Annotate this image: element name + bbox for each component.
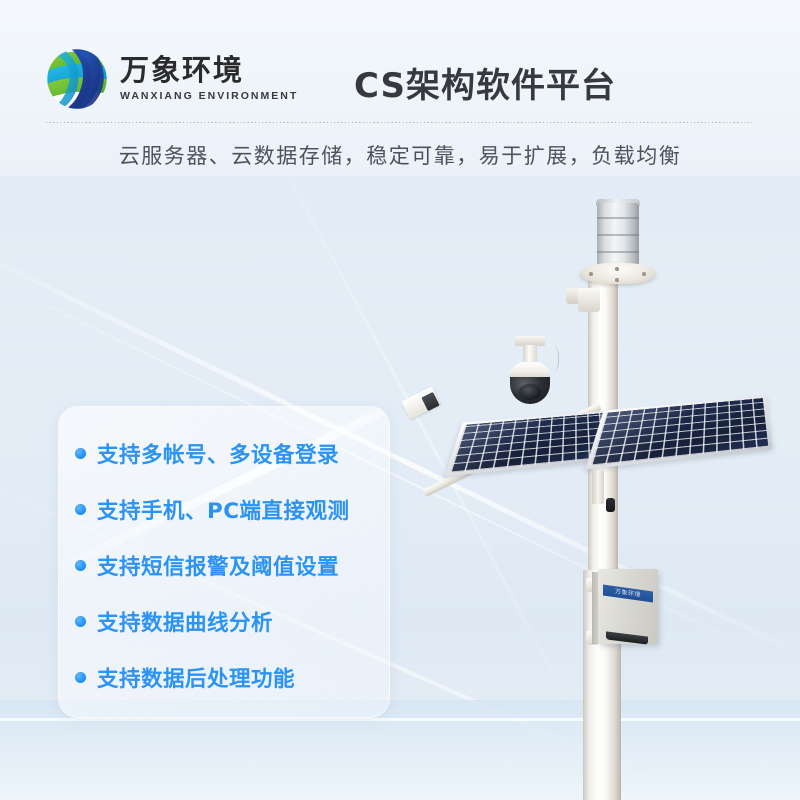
dotted-divider-icon bbox=[46, 122, 752, 123]
camera-cable-icon bbox=[545, 346, 559, 372]
feature-label: 支持短信报警及阈值设置 bbox=[97, 550, 339, 581]
list-item[interactable]: 支持数据后处理功能 bbox=[59, 649, 389, 705]
control-box-label-text: 万象环境 bbox=[603, 584, 653, 602]
feature-label: 支持手机、PC端直接观测 bbox=[97, 494, 350, 525]
solar-panel-clamp-icon bbox=[606, 498, 615, 512]
list-item[interactable]: 支持数据曲线分析 bbox=[59, 593, 389, 649]
rain-gauge-sensor-icon bbox=[597, 203, 639, 265]
list-item[interactable]: 支持短信报警及阈值设置 bbox=[59, 537, 389, 593]
control-box-bracket-bottom-icon bbox=[586, 631, 598, 645]
bg-band-ground bbox=[0, 718, 800, 721]
blue-dot-bullet-icon bbox=[75, 504, 86, 515]
cross-arm-icon bbox=[423, 402, 602, 497]
rain-gauge-cap-icon bbox=[596, 199, 640, 208]
list-item[interactable]: 支持手机、PC端直接观测 bbox=[59, 481, 389, 537]
control-box-vent-icon bbox=[606, 631, 648, 644]
camera-mount-icon bbox=[515, 336, 545, 346]
arm-end-sensor-icon bbox=[401, 386, 440, 419]
pole-lower-icon bbox=[583, 570, 621, 800]
list-item[interactable]: 支持多帐号、多设备登录 bbox=[59, 425, 389, 481]
pole-upper-icon bbox=[588, 278, 618, 578]
feature-label: 支持数据曲线分析 bbox=[97, 606, 273, 637]
solar-panel-brace-icon bbox=[592, 470, 604, 504]
feature-list: 支持多帐号、多设备登录 支持手机、PC端直接观测 支持短信报警及阈值设置 支持数… bbox=[59, 407, 389, 705]
control-box-bracket-top-icon bbox=[586, 578, 598, 592]
blue-dot-bullet-icon bbox=[75, 672, 86, 683]
arm-end-sensor-lens-icon bbox=[421, 392, 439, 411]
arm-base-bracket-icon bbox=[578, 288, 600, 312]
blue-dot-bullet-icon bbox=[75, 448, 86, 459]
page-title: CS架构软件平台 bbox=[0, 58, 800, 107]
feature-label: 支持数据后处理功能 bbox=[97, 662, 295, 693]
ptz-dome-camera-icon bbox=[510, 362, 550, 379]
blue-dot-bullet-icon bbox=[75, 560, 86, 571]
feature-label: 支持多帐号、多设备登录 bbox=[97, 438, 339, 469]
poster-page: 万象环境 bbox=[0, 0, 800, 800]
bg-band-upper bbox=[0, 176, 800, 436]
solar-panel-left-icon bbox=[444, 410, 619, 476]
arm-mount-bracket-icon bbox=[566, 288, 586, 304]
feature-list-card: 支持多帐号、多设备登录 支持手机、PC端直接观测 支持短信报警及阈值设置 支持数… bbox=[58, 406, 390, 718]
camera-neck-icon bbox=[523, 345, 537, 364]
camera-dome-icon bbox=[510, 377, 550, 404]
page-subtitle: 云服务器、云数据存储，稳定可靠，易于扩展，负载均衡 bbox=[0, 140, 800, 170]
poster-header: 万象环境 WANXIANG ENVIRONMENT CS架构软件平台 bbox=[0, 0, 800, 118]
solar-panel-right-icon bbox=[585, 395, 773, 469]
pole-flange-icon bbox=[580, 263, 656, 284]
control-box-label: 万象环境 bbox=[603, 584, 653, 602]
camera-lens-icon bbox=[519, 384, 541, 400]
control-box-icon bbox=[598, 569, 658, 644]
blue-dot-bullet-icon bbox=[75, 616, 86, 627]
control-box-side-icon bbox=[592, 572, 600, 644]
